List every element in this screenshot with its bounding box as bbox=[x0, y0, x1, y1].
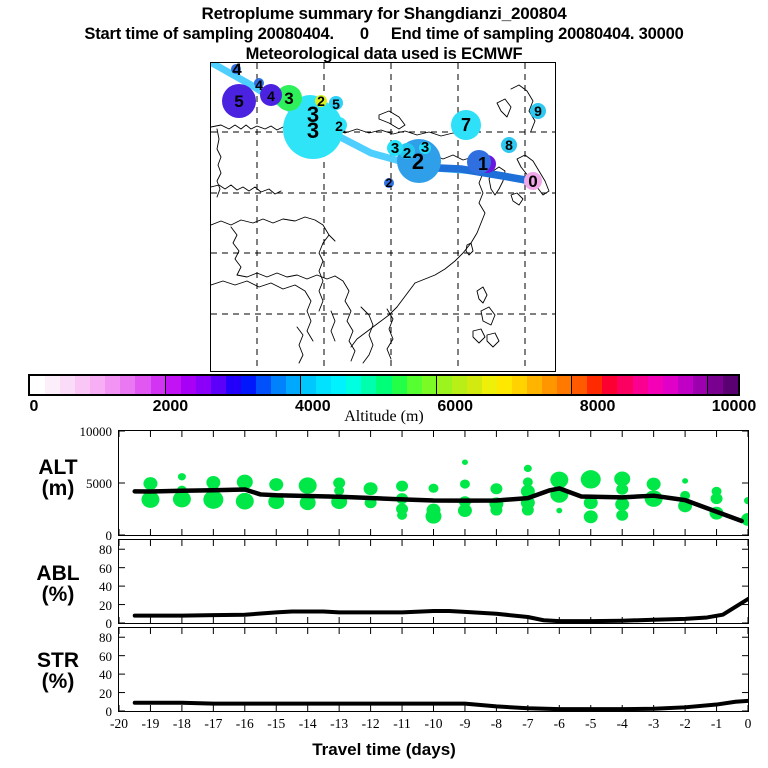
start-time-label: Start time of sampling 20080404. bbox=[84, 25, 333, 43]
sampling-time-line: Start time of sampling 20080404.0End tim… bbox=[0, 24, 768, 44]
colorbar-segment bbox=[301, 376, 316, 394]
map-marker-label: 4 bbox=[217, 62, 257, 78]
colorbar-segment bbox=[361, 376, 376, 394]
colorbar-segment bbox=[105, 376, 120, 394]
altitude-scatter-dot bbox=[458, 504, 472, 517]
map-marker-label: 2 bbox=[369, 177, 409, 189]
colorbar-segment bbox=[346, 376, 361, 394]
colorbar-segment bbox=[211, 376, 226, 394]
y-tick-label: 80 bbox=[48, 542, 112, 558]
altitude-scatter-dot bbox=[462, 459, 468, 465]
altitude-scatter-dot bbox=[299, 477, 317, 494]
map-marker-label: 2 bbox=[398, 151, 438, 173]
y-tick-label: 10000 bbox=[48, 424, 112, 440]
colorbar-segment bbox=[151, 376, 166, 394]
colorbar-segment bbox=[135, 376, 150, 394]
altitude-scatter-dot bbox=[584, 510, 598, 523]
altitude-colorbar bbox=[28, 374, 740, 396]
colorbar-segment bbox=[90, 376, 105, 394]
colorbar-segment bbox=[331, 376, 346, 394]
retroplume-summary-figure: Retroplume summary for Shangdianzi_20080… bbox=[0, 0, 768, 768]
altitude-scatter-dot bbox=[490, 483, 502, 494]
altitude-scatter-dot bbox=[581, 470, 601, 488]
colorbar-segment bbox=[196, 376, 211, 394]
colorbar-segment bbox=[587, 376, 602, 394]
colorbar-segment bbox=[30, 376, 45, 394]
colorbar-segment bbox=[467, 376, 482, 394]
colorbar-axis-title: Altitude (m) bbox=[0, 408, 768, 426]
altitude-scatter-dot bbox=[556, 508, 562, 514]
y-tick-label: 60 bbox=[48, 561, 112, 577]
start-time-value: 0 bbox=[360, 25, 369, 43]
colorbar-segment bbox=[316, 376, 331, 394]
colorbar-segment bbox=[633, 376, 648, 394]
map-marker-label: 0 bbox=[513, 173, 553, 190]
alt-panel bbox=[118, 430, 749, 536]
end-time-label: End time of sampling 20080404. 30000 bbox=[391, 25, 684, 43]
altitude-scatter-dot bbox=[682, 478, 688, 484]
altitude-scatter-dot bbox=[522, 505, 534, 516]
altitude-scatter-dot bbox=[178, 473, 186, 480]
altitude-scatter-dot bbox=[426, 509, 442, 524]
colorbar-segment bbox=[181, 376, 196, 394]
colorbar-segment bbox=[512, 376, 527, 394]
altitude-scatter-dot bbox=[203, 490, 223, 508]
altitude-scatter-dot bbox=[334, 486, 344, 495]
map-marker-label: 1 bbox=[463, 155, 503, 173]
y-tick-label: 40 bbox=[48, 579, 112, 595]
x-tick-label: 0 bbox=[728, 716, 768, 732]
colorbar-segment bbox=[271, 376, 286, 394]
colorbar-segment bbox=[497, 376, 512, 394]
alt-plot bbox=[119, 431, 748, 535]
colorbar-segment bbox=[663, 376, 678, 394]
colorbar-segment bbox=[75, 376, 90, 394]
map-marker-label: 2 bbox=[319, 119, 359, 133]
colorbar-segment bbox=[693, 376, 708, 394]
y-tick-label: 5000 bbox=[48, 476, 112, 492]
colorbar-segment bbox=[437, 376, 452, 394]
altitude-scatter-dot bbox=[397, 511, 407, 520]
colorbar-segment bbox=[256, 376, 271, 394]
colorbar-segment bbox=[392, 376, 407, 394]
altitude-scatter-dot bbox=[744, 497, 748, 504]
colorbar-segment bbox=[376, 376, 391, 394]
colorbar-segment bbox=[572, 376, 587, 394]
colorbar-segment bbox=[45, 376, 60, 394]
colorbar-segment bbox=[60, 376, 75, 394]
colorbar-segment bbox=[226, 376, 241, 394]
str-panel bbox=[118, 627, 749, 712]
altitude-scatter-dot bbox=[141, 491, 159, 508]
colorbar-gradient bbox=[28, 374, 740, 396]
altitude-scatter-dot bbox=[615, 498, 629, 511]
altitude-scatter-dot bbox=[550, 472, 568, 489]
colorbar-segment bbox=[648, 376, 663, 394]
colorbar-segment bbox=[120, 376, 135, 394]
x-axis-title: Travel time (days) bbox=[0, 740, 768, 760]
y-tick-label: 40 bbox=[48, 667, 112, 683]
colorbar-segment bbox=[557, 376, 572, 394]
colorbar-segment bbox=[452, 376, 467, 394]
alt-label-line1: ALT bbox=[8, 457, 108, 478]
colorbar-segment bbox=[527, 376, 542, 394]
colorbar-segment bbox=[422, 376, 437, 394]
colorbar-segment bbox=[166, 376, 181, 394]
altitude-scatter-dot bbox=[236, 493, 254, 510]
map-marker-label: 9 bbox=[518, 104, 556, 118]
altitude-scatter-dot bbox=[616, 484, 628, 495]
altitude-scatter-dot bbox=[647, 478, 661, 491]
altitude-scatter-dot bbox=[429, 484, 439, 493]
map-coastlines bbox=[211, 85, 549, 363]
altitude-scatter-dot bbox=[460, 479, 470, 488]
y-tick-label: 80 bbox=[48, 630, 112, 646]
met-data-line: Meteorological data used is ECMWF bbox=[0, 44, 768, 64]
page-title: Retroplume summary for Shangdianzi_20080… bbox=[0, 4, 768, 24]
colorbar-segment bbox=[708, 376, 723, 394]
colorbar-segment bbox=[542, 376, 557, 394]
altitude-scatter-dot bbox=[490, 505, 502, 516]
colorbar-segment bbox=[617, 376, 632, 394]
colorbar-segment bbox=[241, 376, 256, 394]
str-trace bbox=[135, 701, 748, 709]
y-tick-label: 20 bbox=[48, 598, 112, 614]
altitude-scatter-dot bbox=[616, 510, 628, 521]
colorbar-segment bbox=[723, 376, 738, 394]
map-marker-label: 7 bbox=[446, 116, 486, 134]
colorbar-segment bbox=[286, 376, 301, 394]
abl-plot bbox=[119, 540, 748, 623]
colorbar-segment bbox=[407, 376, 422, 394]
altitude-scatter-dot bbox=[711, 493, 723, 504]
altitude-scatter-dot bbox=[364, 482, 378, 495]
str-plot bbox=[119, 628, 748, 711]
retroplume-map: 44543253327891011161415133232102 bbox=[210, 62, 556, 372]
altitude-scatter-dot bbox=[524, 465, 532, 472]
altitude-scatter-dot bbox=[143, 477, 157, 490]
altitude-scatter-dot bbox=[269, 478, 283, 491]
colorbar-segment bbox=[602, 376, 617, 394]
colorbar-segment bbox=[678, 376, 693, 394]
altitude-scatter-dot bbox=[173, 491, 191, 508]
figure-title-block: Retroplume summary for Shangdianzi_20080… bbox=[0, 0, 768, 64]
map-graphics bbox=[211, 63, 555, 371]
abl-trace bbox=[135, 599, 748, 621]
map-marker-label: 8 bbox=[489, 138, 529, 152]
colorbar-segment bbox=[482, 376, 497, 394]
y-tick-label: 20 bbox=[48, 686, 112, 702]
y-tick-label: 60 bbox=[48, 649, 112, 665]
map-gridlines bbox=[211, 63, 555, 371]
altitude-scatter-dot bbox=[237, 475, 253, 490]
altitude-scatter-dot bbox=[396, 481, 408, 492]
abl-panel bbox=[118, 539, 749, 624]
